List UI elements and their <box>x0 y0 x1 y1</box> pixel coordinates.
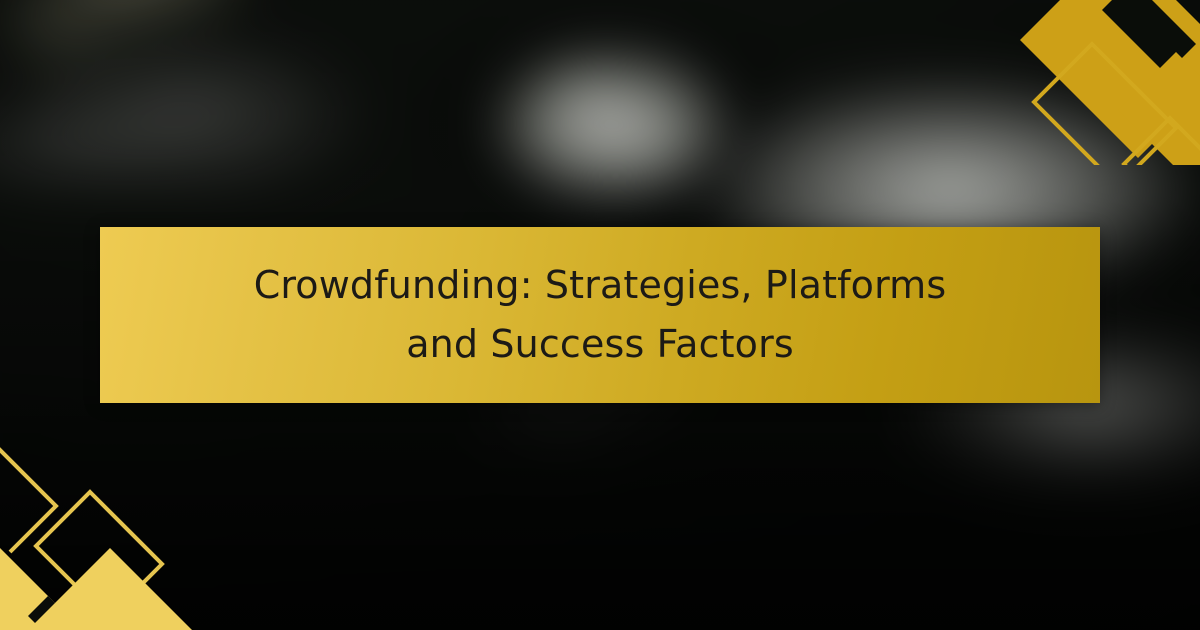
page-title: Crowdfunding: Strategies, Platforms and … <box>220 256 980 374</box>
title-card: Crowdfunding: Strategies, Platforms and … <box>0 0 1200 630</box>
title-banner: Crowdfunding: Strategies, Platforms and … <box>100 227 1100 403</box>
